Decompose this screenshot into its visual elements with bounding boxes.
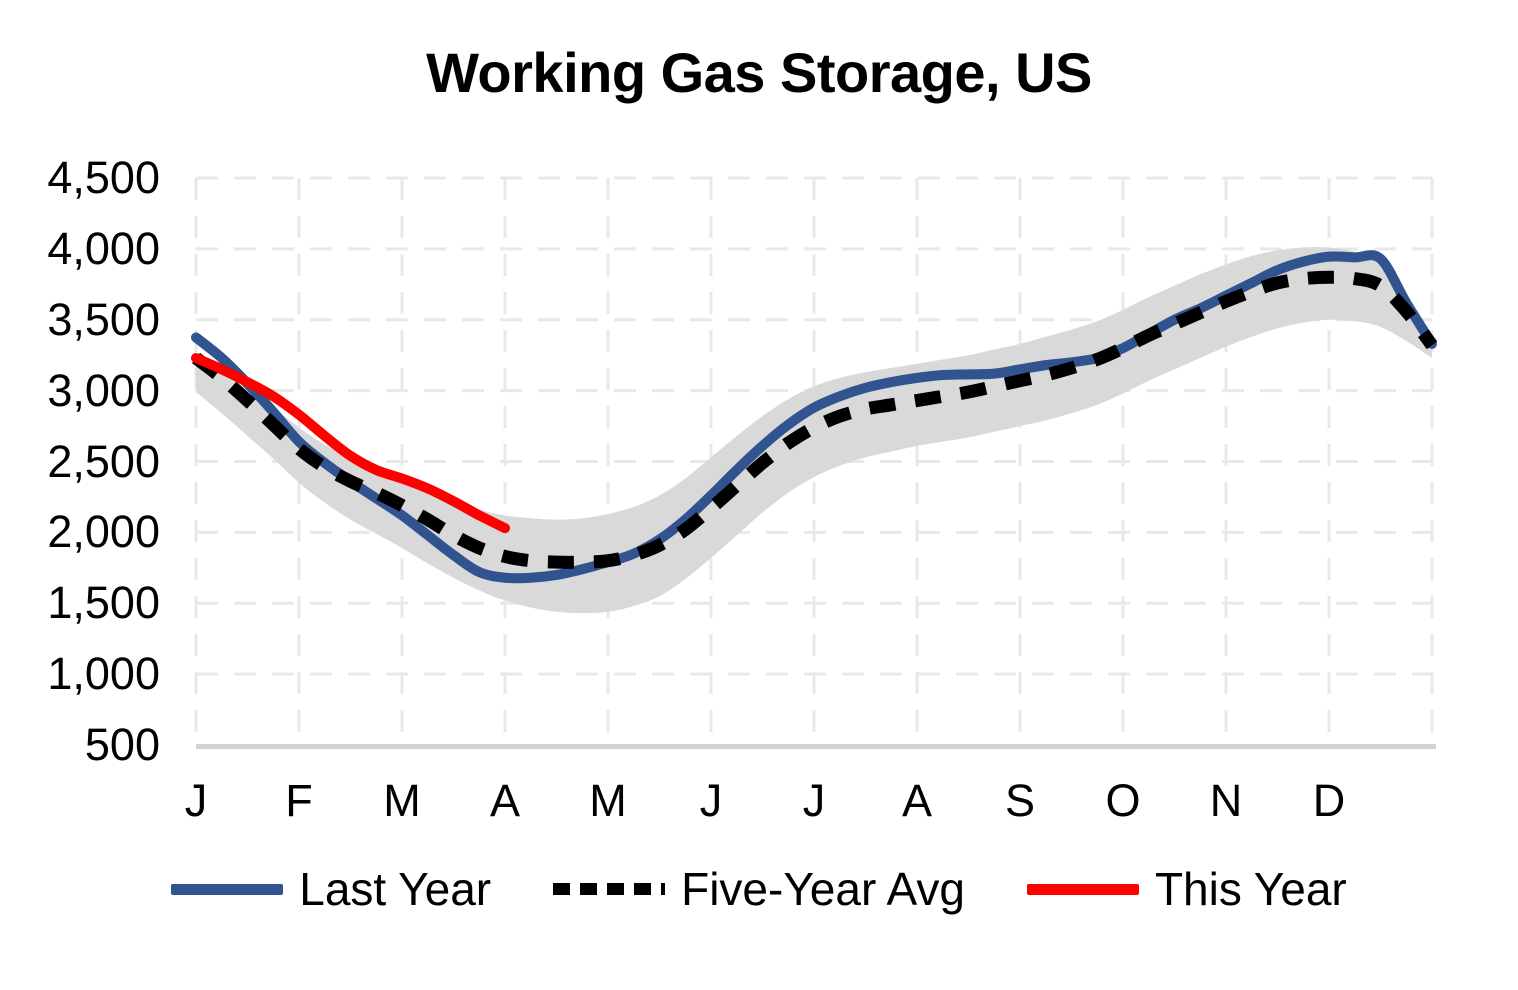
x-axis-tick-label: J xyxy=(185,775,208,827)
x-axis-tick-label: J xyxy=(803,775,826,827)
legend-label: Last Year xyxy=(299,866,491,912)
y-axis-tick-label: 1,500 xyxy=(47,577,160,629)
chart-legend: Last YearFive-Year AvgThis Year xyxy=(0,866,1518,912)
plot-svg xyxy=(196,178,1432,745)
x-axis-tick-label: S xyxy=(1005,775,1035,827)
y-axis-labels: 5001,0001,5002,0002,5003,0003,5004,0004,… xyxy=(0,178,176,745)
legend-label: This Year xyxy=(1155,866,1347,912)
y-axis-tick-label: 500 xyxy=(85,719,160,771)
legend-label: Five-Year Avg xyxy=(681,866,965,912)
legend-item[interactable]: This Year xyxy=(1027,866,1347,912)
legend-swatch-solid-blue-icon xyxy=(171,884,283,895)
chart-title: Working Gas Storage, US xyxy=(0,42,1518,104)
x-axis-tick-label: F xyxy=(285,775,313,827)
y-axis-tick-label: 2,500 xyxy=(47,436,160,488)
x-axis-tick-label: A xyxy=(490,775,520,827)
x-axis-tick-label: D xyxy=(1313,775,1346,827)
chart-root: Working Gas Storage, US 5001,0001,5002,0… xyxy=(0,0,1518,990)
plot-area xyxy=(196,178,1432,745)
legend-swatch-solid-red-icon xyxy=(1027,884,1139,895)
y-axis-tick-label: 3,500 xyxy=(47,294,160,346)
y-axis-tick-label: 4,000 xyxy=(47,223,160,275)
y-axis-tick-label: 1,000 xyxy=(47,648,160,700)
x-axis-tick-label: M xyxy=(589,775,627,827)
x-axis-tick-label: N xyxy=(1210,775,1243,827)
y-axis-tick-label: 4,500 xyxy=(47,152,160,204)
y-axis-tick-label: 3,000 xyxy=(47,365,160,417)
x-axis-labels: JFMAMJJASOND xyxy=(196,775,1432,835)
x-axis-tick-label: O xyxy=(1105,775,1140,827)
x-axis-tick-label: A xyxy=(902,775,932,827)
legend-swatch-dashed-black-icon xyxy=(553,883,665,895)
x-axis-tick-label: M xyxy=(383,775,421,827)
x-axis-line xyxy=(196,744,1436,749)
legend-item[interactable]: Last Year xyxy=(171,866,491,912)
legend-item[interactable]: Five-Year Avg xyxy=(553,866,965,912)
y-axis-tick-label: 2,000 xyxy=(47,506,160,558)
x-axis-tick-label: J xyxy=(700,775,723,827)
